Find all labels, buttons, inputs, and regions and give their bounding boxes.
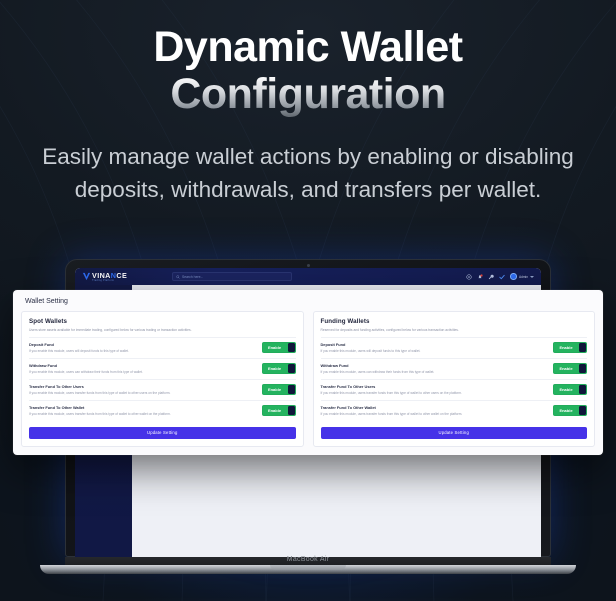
option-label: Transfer Fund To Other Wallet [29,405,171,410]
toggle-knob [579,385,586,394]
wallet-panels: Spot Wallets Users store assets availabl… [21,311,595,447]
toggle-knob [288,385,295,394]
page-title-line-1: Dynamic Wallet [0,24,616,71]
wallet-option-row: Deposit Fund If you enable this module, … [29,337,296,358]
transfer-to-wallet-toggle[interactable]: Enable [553,405,587,416]
update-setting-button[interactable]: Update Setting [29,427,296,439]
toggle-knob [288,406,295,415]
option-label: Deposit Fund [29,342,129,347]
option-label: Transfer Fund To Other Users [29,384,170,389]
option-label: Transfer Fund To Other Wallet [321,405,463,410]
toggle-label: Enable [553,408,579,413]
transfer-to-users-toggle[interactable]: Enable [553,384,587,395]
toggle-knob [288,343,295,352]
option-description: If you enable this module, users can wit… [29,370,143,374]
wallet-option-row: Transfer Fund To Other Wallet If you ena… [321,400,588,421]
logo-text: VINANCE [92,272,127,279]
page-title-line-2: Configuration [0,71,616,122]
app-logo[interactable]: VINANCE Trading Platform [82,272,164,282]
toggle-knob [288,364,295,373]
update-setting-button[interactable]: Update Setting [321,427,588,439]
transfer-to-users-toggle[interactable]: Enable [262,384,296,395]
settings-icon[interactable] [466,274,472,280]
panel-spot-wallets: Spot Wallets Users store assets availabl… [21,311,304,447]
account-menu[interactable]: Admin [510,273,534,280]
account-name: Admin [519,275,528,279]
wallet-setting-card: Wallet Setting Spot Wallets Users store … [13,290,603,455]
transfer-to-wallet-toggle[interactable]: Enable [262,405,296,416]
search-input[interactable]: Search here... [172,272,292,281]
option-label: Transfer Fund To Other Users [321,384,462,389]
deposit-fund-toggle[interactable]: Enable [553,342,587,353]
hero-section: Dynamic Wallet Configuration Easily mana… [0,24,616,206]
page-title: Wallet Setting [25,298,595,305]
logo-mark-icon [82,272,91,281]
avatar [510,273,517,280]
toggle-knob [579,343,586,352]
panel-heading: Funding Wallets [321,318,588,325]
option-description: If you enable this module, users transfe… [29,412,171,416]
option-description: If you enable this module, users can wit… [321,370,435,374]
webcam-icon [307,264,310,267]
option-label: Withdraw Fund [321,363,435,368]
search-icon [176,275,180,279]
deposit-fund-toggle[interactable]: Enable [262,342,296,353]
wallet-option-row: Transfer Fund To Other Users If you enab… [321,379,588,400]
panel-funding-wallets: Funding Wallets Reserved for deposits an… [313,311,596,447]
wallet-option-row: Transfer Fund To Other Wallet If you ena… [29,400,296,421]
toggle-label: Enable [553,345,579,350]
wallet-option-row: Withdraw Fund If you enable this module,… [29,358,296,379]
toggle-label: Enable [262,366,288,371]
option-label: Deposit Fund [321,342,421,347]
panel-heading: Spot Wallets [29,318,296,325]
option-description: If you enable this module, users transfe… [321,391,462,395]
wallet-option-rows: Deposit Fund If you enable this module, … [321,337,588,421]
wallet-option-row: Deposit Fund If you enable this module, … [321,337,588,358]
toggle-label: Enable [262,387,288,392]
wallet-option-row: Withdraw Fund If you enable this module,… [321,358,588,379]
search-placeholder: Search here... [182,275,203,279]
device-label: MacBook Air [65,556,551,563]
topbar-icons: Admin [466,273,534,280]
laptop-base-notch [270,565,346,570]
panel-subtext: Reserved for deposits and funding activi… [321,328,588,332]
wallet-option-rows: Deposit Fund If you enable this module, … [29,337,296,421]
withdraw-fund-toggle[interactable]: Enable [553,363,587,374]
withdraw-fund-toggle[interactable]: Enable [262,363,296,374]
notification-icon[interactable] [477,274,483,280]
laptop-base: MacBook Air [10,557,606,573]
option-description: If you enable this module, users will de… [29,349,129,353]
chevron-down-icon [530,276,534,278]
toggle-label: Enable [262,408,288,413]
page-subtitle: Easily manage wallet actions by enabling… [0,140,616,206]
option-description: If you enable this module, users will de… [321,349,421,353]
wallet-option-row: Transfer Fund To Other Users If you enab… [29,379,296,400]
app-topbar: VINANCE Trading Platform Search here... [75,268,541,285]
option-description: If you enable this module, users transfe… [29,391,170,395]
option-label: Withdraw Fund [29,363,143,368]
toggle-knob [579,406,586,415]
toggle-label: Enable [553,387,579,392]
option-description: If you enable this module, users transfe… [321,412,463,416]
panel-subtext: Users store assets available for immedia… [29,328,296,332]
toggle-knob [579,364,586,373]
wrench-icon[interactable] [488,274,494,280]
toggle-label: Enable [262,345,288,350]
toggle-label: Enable [553,366,579,371]
check-icon[interactable] [499,274,505,280]
